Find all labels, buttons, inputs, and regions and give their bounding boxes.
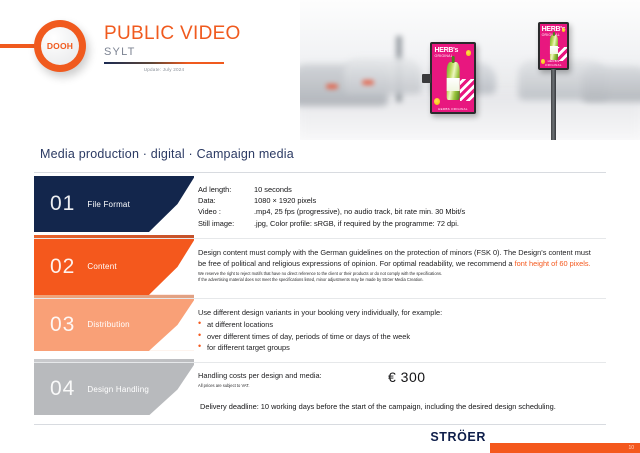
handling-cost-block: Handling costs per design and media: All… (198, 371, 600, 388)
row-number: 04 (50, 377, 75, 401)
row-tab-distribution: 03 Distribution (34, 299, 194, 351)
row-label: File Format (87, 200, 130, 209)
handling-cost-text: Handling costs per design and media: All… (198, 371, 388, 388)
section-title: Media production · digital · Campaign me… (40, 147, 294, 161)
bottle-label (549, 46, 557, 54)
row-body-distribution: Use different design variants in your bo… (194, 299, 606, 360)
stripes-graphic (460, 79, 474, 101)
row-label: Distribution (87, 320, 129, 329)
ad-brand-name: HERB's (435, 47, 459, 54)
table-row: 01 File Format Ad length: 10 seconds Dat… (34, 176, 606, 235)
bottle-graphic (447, 62, 460, 100)
car-blur (344, 58, 422, 94)
spec-value: 10 seconds (254, 184, 600, 195)
distribution-lead: Use different design variants in your bo… (198, 307, 600, 318)
page-number: 10 (628, 443, 634, 453)
spec-line: Ad length: 10 seconds (198, 184, 600, 195)
content-line-1: Design content must comply with the Germ… (198, 247, 600, 258)
content-line-2: be free of political and religious expre… (198, 258, 600, 269)
footer-divider (34, 424, 606, 425)
list-item: at different locations (198, 319, 600, 330)
tail-light-blur (362, 80, 374, 85)
content-line-2-text: be free of political and religious expre… (198, 259, 515, 268)
content-highlight: font height of 60 pixels. (515, 259, 591, 268)
ad-footer-text: HERBS ORIGINAL (432, 107, 474, 111)
table-row: 02 Content Design content must comply wi… (34, 239, 606, 295)
row-number: 02 (50, 255, 75, 279)
delivery-deadline-note: Delivery deadline: 10 working days befor… (200, 402, 556, 411)
spec-key: Video : (198, 206, 254, 217)
distribution-bullet-list: at different locations over different ti… (198, 319, 600, 353)
stroeer-logo: STRÖER (430, 430, 486, 444)
spec-value: .mp4, 25 fps (progressive), no audio tra… (254, 206, 600, 217)
row-number: 01 (50, 192, 75, 216)
row-tab-content: 02 Content (34, 239, 194, 295)
row-number: 03 (50, 313, 75, 337)
spec-value: .jpg, Color profile: sRGB, if required b… (254, 218, 600, 229)
ad-brand-sub: ORIGINAL (435, 54, 459, 58)
dooh-badge-label: DOOH (47, 41, 73, 51)
fineprint-2: If the advertising material does not mee… (198, 277, 600, 283)
spec-line: Video : .mp4, 25 fps (progressive), no a… (198, 206, 600, 217)
lemon-graphic (466, 50, 472, 56)
row-label: Design Handling (87, 385, 149, 394)
row-body-content: Design content must comply with the Germ… (194, 239, 606, 295)
spec-key: Data: (198, 195, 254, 206)
title-block: PUBLIC VIDEO SYLT Update: July 2024 (104, 24, 241, 72)
lemon-graphic (434, 98, 441, 105)
spec-table: 01 File Format Ad length: 10 seconds Dat… (34, 176, 606, 415)
dooh-badge: DOOH (34, 20, 86, 72)
dooh-screen-background: HERB's ORIGINAL HERBS ORIGINAL (538, 22, 569, 70)
dooh-screen-foreground: HERB's ORIGINAL HERBS ORIGINAL (430, 42, 476, 114)
ad-creative: HERB's ORIGINAL HERBS ORIGINAL (540, 24, 567, 68)
screen-frame: HERB's ORIGINAL HERBS ORIGINAL (430, 42, 476, 114)
spec-key: Ad length: (198, 184, 254, 195)
list-item: over different times of day, periods of … (198, 331, 600, 342)
screen-mount-arm (422, 74, 431, 83)
bottle-label (447, 78, 460, 91)
spec-line: Still image: .jpg, Color profile: sRGB, … (198, 218, 600, 229)
spec-key: Still image: (198, 218, 254, 229)
row-tab-design-handling: 04 Design Handling (34, 363, 194, 415)
page-subtitle: SYLT (104, 46, 241, 58)
list-item: for different target groups (198, 342, 600, 353)
ad-creative: HERB's ORIGINAL HERBS ORIGINAL (432, 44, 474, 112)
row-label: Content (87, 262, 116, 271)
screen-frame: HERB's ORIGINAL HERBS ORIGINAL (538, 22, 569, 70)
dooh-badge-inner: DOOH (41, 27, 79, 65)
tail-light-blur (326, 84, 338, 89)
slide-page: HERB's ORIGINAL HERBS ORIGINAL (0, 0, 640, 453)
screen-pole (551, 69, 556, 140)
update-date: Update: July 2024 (104, 67, 224, 72)
row-tab-file-format: 01 File Format (34, 176, 194, 232)
spec-value: 1080 × 1920 pixels (254, 195, 600, 206)
title-underline (104, 62, 224, 65)
spec-line: Data: 1080 × 1920 pixels (198, 195, 600, 206)
bottle-graphic (549, 35, 557, 60)
table-row: 03 Distribution Use different design var… (34, 299, 606, 360)
footer-page-bar (490, 443, 640, 453)
content-paragraph: Design content must comply with the Germ… (198, 247, 600, 269)
vat-note: All prices are subject to VAT. (198, 383, 388, 388)
section-divider (34, 172, 606, 173)
page-title: PUBLIC VIDEO (104, 24, 241, 44)
ad-brand-logo: HERB's ORIGINAL (435, 47, 459, 58)
row-body-file-format: Ad length: 10 seconds Data: 1080 × 1920 … (194, 176, 606, 235)
car-blur (582, 66, 640, 102)
handling-price: € 300 (388, 369, 426, 385)
slide-header: HERB's ORIGINAL HERBS ORIGINAL (0, 0, 640, 140)
ad-footer-text: HERBS ORIGINAL (540, 59, 567, 67)
handling-cost-label: Handling costs per design and media: (198, 371, 388, 380)
